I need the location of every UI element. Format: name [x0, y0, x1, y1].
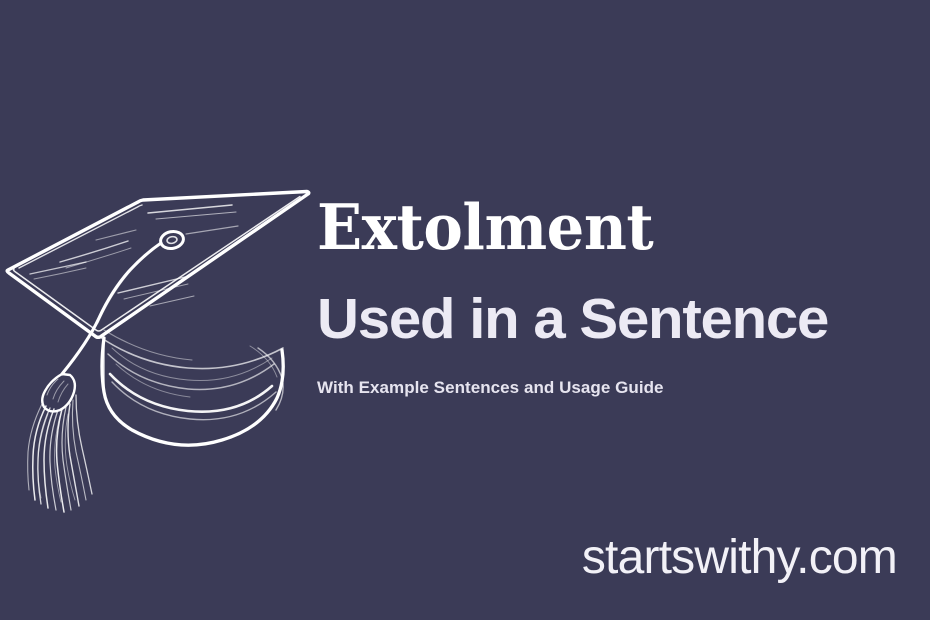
hero-headline: Used in a Sentence	[317, 259, 929, 348]
page-title: Extolment	[317, 196, 881, 259]
hero-card: Extolment Used in a Sentence With Exampl…	[0, 0, 930, 620]
brand-domain: startswithy.com	[582, 534, 897, 582]
hero-text-block: Extolment Used in a Sentence With Exampl…	[317, 196, 917, 396]
hero-subtitle: With Example Sentences and Usage Guide	[317, 348, 917, 396]
graduation-cap-icon	[0, 178, 320, 460]
